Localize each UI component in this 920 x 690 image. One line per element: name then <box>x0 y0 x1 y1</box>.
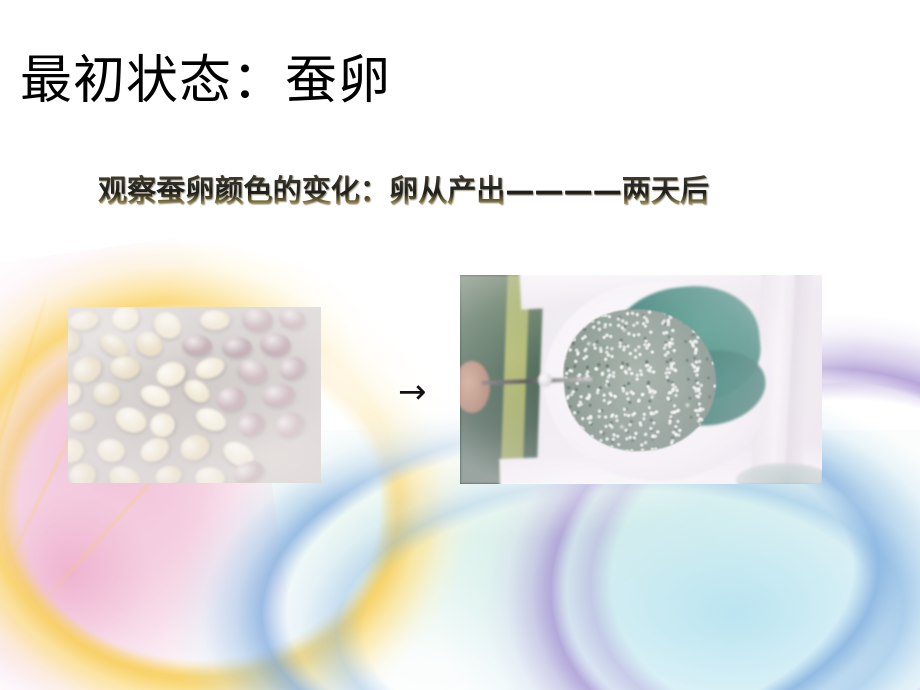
photo-silkworm-eggs-closeup <box>68 307 321 483</box>
pink-wash-shape-2 <box>0 470 220 690</box>
photo-silkworm-eggs-on-leaf <box>460 275 822 484</box>
photo2-soft-haze <box>460 275 822 484</box>
slide-title: 最初状态：蚕卵 <box>20 51 391 113</box>
silkworm-egg <box>109 356 139 380</box>
yellow-filament-1 <box>0 295 47 514</box>
silkworm-egg <box>200 310 229 330</box>
silkworm-egg <box>93 382 120 406</box>
slide-subtitle: 观察蚕卵颜色的变化：卵从产出————两天后 <box>98 173 709 211</box>
slide-canvas: 最初状态：蚕卵 观察蚕卵颜色的变化：卵从产出————两天后 → <box>0 0 920 690</box>
slide-subtitle-container: 观察蚕卵颜色的变化：卵从产出————两天后 <box>98 173 678 215</box>
right-arrow-icon: → <box>398 374 444 410</box>
